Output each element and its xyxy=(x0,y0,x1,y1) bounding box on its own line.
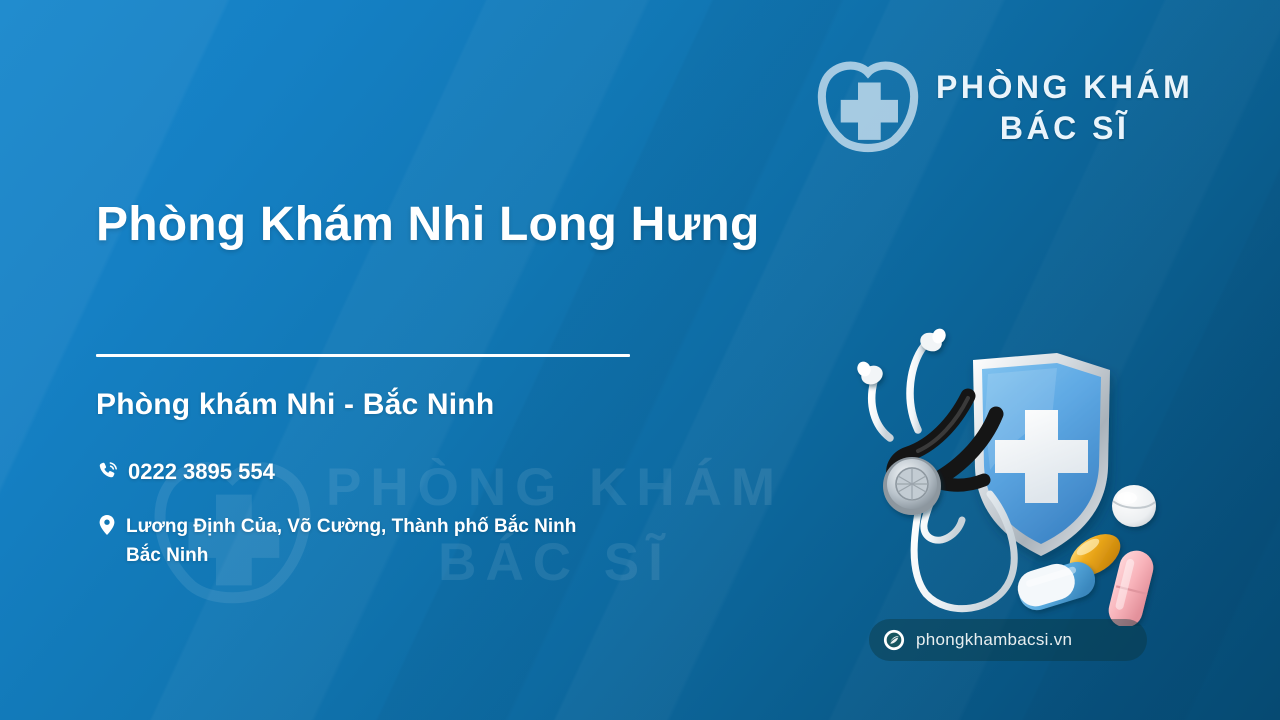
website-url: phongkhambacsi.vn xyxy=(916,630,1072,650)
website-badge[interactable]: phongkhambacsi.vn xyxy=(869,619,1147,661)
address-line2: Bắc Ninh xyxy=(126,545,208,566)
brand-logo-line2: BÁC SĨ xyxy=(936,111,1193,147)
stethoscope-chestpiece xyxy=(883,457,941,515)
stethoscope xyxy=(872,346,924,438)
brand-logo-line1: PHÒNG KHÁM xyxy=(936,70,1193,106)
medical-cross-heart-icon xyxy=(812,58,924,158)
phone-call-icon xyxy=(96,458,120,484)
page-subtitle: Phòng khám Nhi - Bắc Ninh xyxy=(96,388,494,422)
clinic-banner: PHÒNG KHÁM BÁC SĨ PHÒNG KHÁM BÁC SĨ Phòn… xyxy=(0,0,1280,720)
globe-icon xyxy=(883,629,905,651)
stethoscope-shield-pills-illustration xyxy=(838,318,1178,626)
watermark-line1: PHÒNG KHÁM xyxy=(326,458,784,517)
address-text: Lương Định Của, Võ Cường, Thành phố Bắc … xyxy=(126,512,576,571)
shield-with-cross xyxy=(973,353,1110,556)
address-line1: Lương Định Của, Võ Cường, Thành phố Bắc … xyxy=(126,516,576,537)
brand-logo-text: PHÒNG KHÁM BÁC SĨ xyxy=(936,70,1193,147)
page-title: Phòng Khám Nhi Long Hưng xyxy=(96,197,856,252)
contact-address-row[interactable]: Lương Định Của, Võ Cường, Thành phố Bắc … xyxy=(96,512,796,571)
contact-phone-row[interactable]: 0222 3895 554 xyxy=(96,458,275,485)
white-round-pill xyxy=(1112,485,1156,527)
phone-number: 0222 3895 554 xyxy=(128,458,275,485)
map-pin-icon xyxy=(96,512,118,538)
divider xyxy=(96,354,630,357)
stethoscope-earpieces xyxy=(855,327,948,388)
blue-white-capsule xyxy=(1013,557,1099,614)
brand-logo: PHÒNG KHÁM BÁC SĨ xyxy=(812,58,1193,158)
